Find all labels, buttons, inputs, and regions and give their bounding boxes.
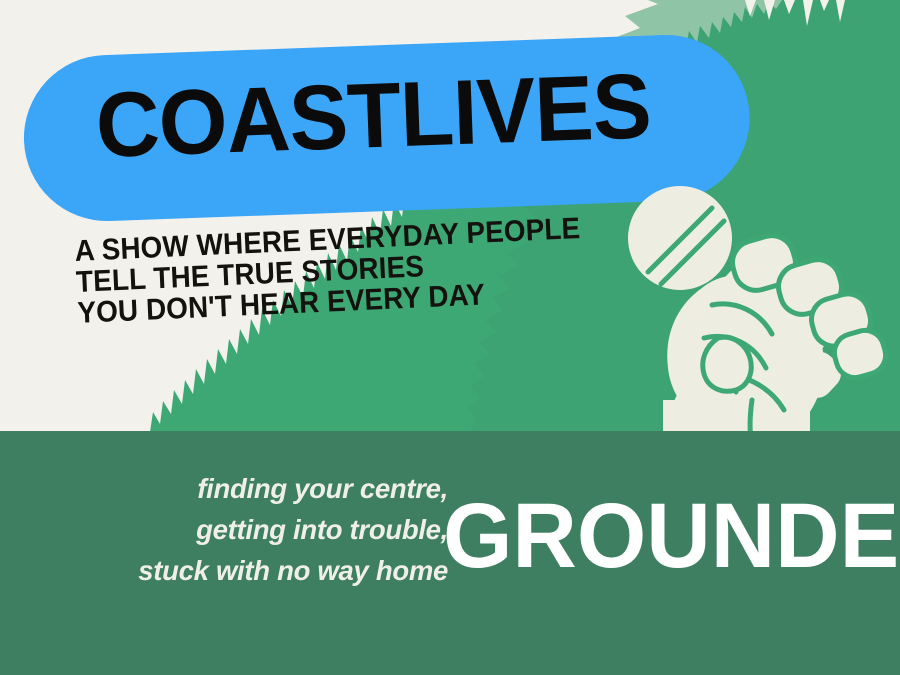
blurb-line-2: getting into trouble, <box>58 509 448 550</box>
blurb-line-3: stuck with no way home <box>58 550 448 591</box>
episode-title: GROUNDED <box>443 490 900 582</box>
blurb-line-1: finding your centre, <box>58 468 448 509</box>
podcast-cover-art: COASTLIVES A SHOW WHERE EVERYDAY PEOPLE … <box>0 0 900 675</box>
page-title: COASTLIVES <box>94 56 711 174</box>
episode-blurb: finding your centre, getting into troubl… <box>58 468 448 591</box>
